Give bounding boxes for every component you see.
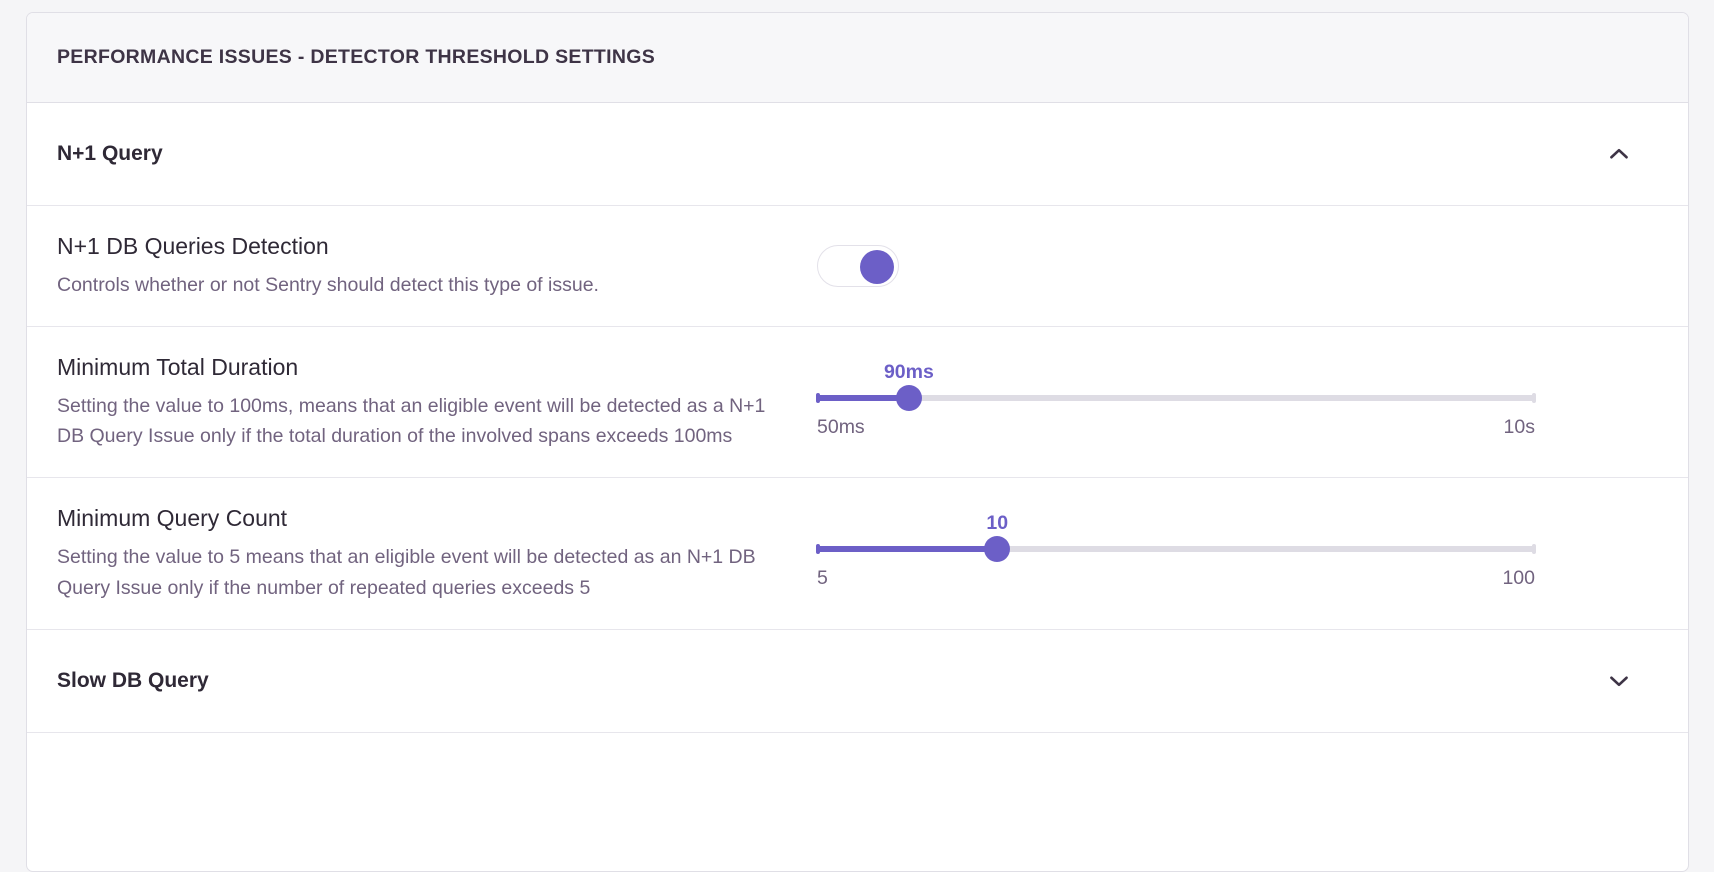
field-row-minimum-total-duration: Minimum Total Duration Setting the value… (27, 327, 1688, 478)
chevron-down-icon[interactable] (1606, 668, 1632, 694)
slider-min-label: 5 (817, 567, 828, 590)
slider-max-label: 100 (1502, 567, 1535, 590)
slider-thumb[interactable] (984, 536, 1010, 562)
field-row-minimum-query-count: Minimum Query Count Setting the value to… (27, 478, 1688, 629)
slider-end-cap (1532, 393, 1536, 403)
group-header-n-plus-1-query[interactable]: N+1 Query (27, 103, 1688, 206)
field-control-area: 90ms 50ms 10s (817, 353, 1658, 439)
slider-value-label: 90ms (884, 361, 934, 384)
field-description: Setting the value to 100ms, means that a… (57, 391, 797, 451)
field-text-block: Minimum Total Duration Setting the value… (57, 353, 817, 451)
minimum-total-duration-slider[interactable]: 90ms 50ms 10s (817, 361, 1535, 439)
slider-range-labels: 50ms 10s (817, 416, 1535, 439)
slider-value-label: 10 (986, 512, 1008, 535)
slider-max-label: 10s (1504, 416, 1535, 439)
field-text-block: N+1 DB Queries Detection Controls whethe… (57, 232, 817, 300)
field-label: Minimum Query Count (57, 504, 797, 534)
slider-range-labels: 5 100 (817, 567, 1535, 590)
field-control-area (817, 245, 1658, 287)
field-control-area: 10 5 100 (817, 504, 1658, 590)
group-title: Slow DB Query (57, 669, 209, 693)
group-header-slow-db-query[interactable]: Slow DB Query (27, 630, 1688, 733)
group-title: N+1 Query (57, 142, 163, 166)
slider-track[interactable] (817, 546, 1535, 552)
panel-header: PERFORMANCE ISSUES - DETECTOR THRESHOLD … (27, 13, 1688, 103)
slider-fill (817, 546, 997, 552)
field-row-n-plus-1-db-queries-detection: N+1 DB Queries Detection Controls whethe… (27, 206, 1688, 327)
slider-end-cap (1532, 544, 1536, 554)
field-description: Setting the value to 5 means that an eli… (57, 542, 797, 602)
field-label: N+1 DB Queries Detection (57, 232, 797, 262)
slider-thumb[interactable] (896, 385, 922, 411)
field-description: Controls whether or not Sentry should de… (57, 270, 797, 300)
toggle-knob (860, 250, 894, 284)
field-text-block: Minimum Query Count Setting the value to… (57, 504, 817, 602)
page-title: PERFORMANCE ISSUES - DETECTOR THRESHOLD … (57, 46, 655, 69)
detector-threshold-settings-panel: PERFORMANCE ISSUES - DETECTOR THRESHOLD … (26, 12, 1689, 872)
chevron-up-icon[interactable] (1606, 141, 1632, 167)
slider-track[interactable] (817, 395, 1535, 401)
n-plus-1-detection-toggle[interactable] (817, 245, 899, 287)
field-label: Minimum Total Duration (57, 353, 797, 383)
minimum-query-count-slider[interactable]: 10 5 100 (817, 512, 1535, 590)
slider-min-label: 50ms (817, 416, 865, 439)
